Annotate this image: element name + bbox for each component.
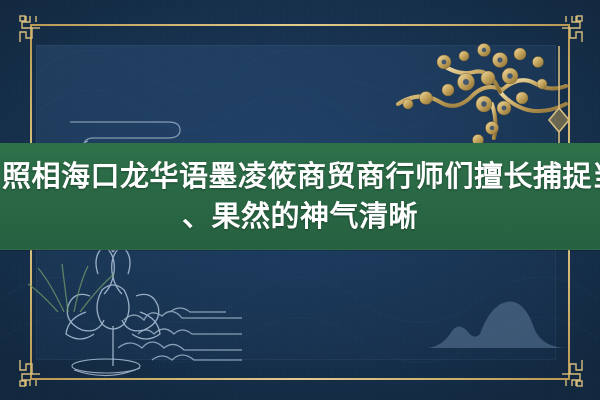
fret-corner-icon	[16, 12, 50, 46]
title-banner: 照相海口龙华语墨凌筱商贸商行师们擅长捕捉当然 、果然的神气清晰	[0, 143, 600, 250]
frame-line-bottom	[30, 378, 570, 380]
banner-line-1: 照相海口龙华语墨凌筱商贸商行师们擅长捕捉当然	[2, 157, 598, 197]
frame-line-top	[30, 24, 570, 26]
fret-corner-icon	[16, 356, 50, 390]
fret-corner-icon	[552, 356, 586, 390]
poster-canvas: 照相海口龙华语墨凌筱商贸商行师们擅长捕捉当然 、果然的神气清晰	[0, 0, 600, 400]
banner-line-2: 、果然的神气清晰	[2, 197, 598, 237]
fret-corner-icon	[552, 12, 586, 46]
banner-text-block: 照相海口龙华语墨凌筱商贸商行师们擅长捕捉当然 、果然的神气清晰	[2, 157, 598, 237]
